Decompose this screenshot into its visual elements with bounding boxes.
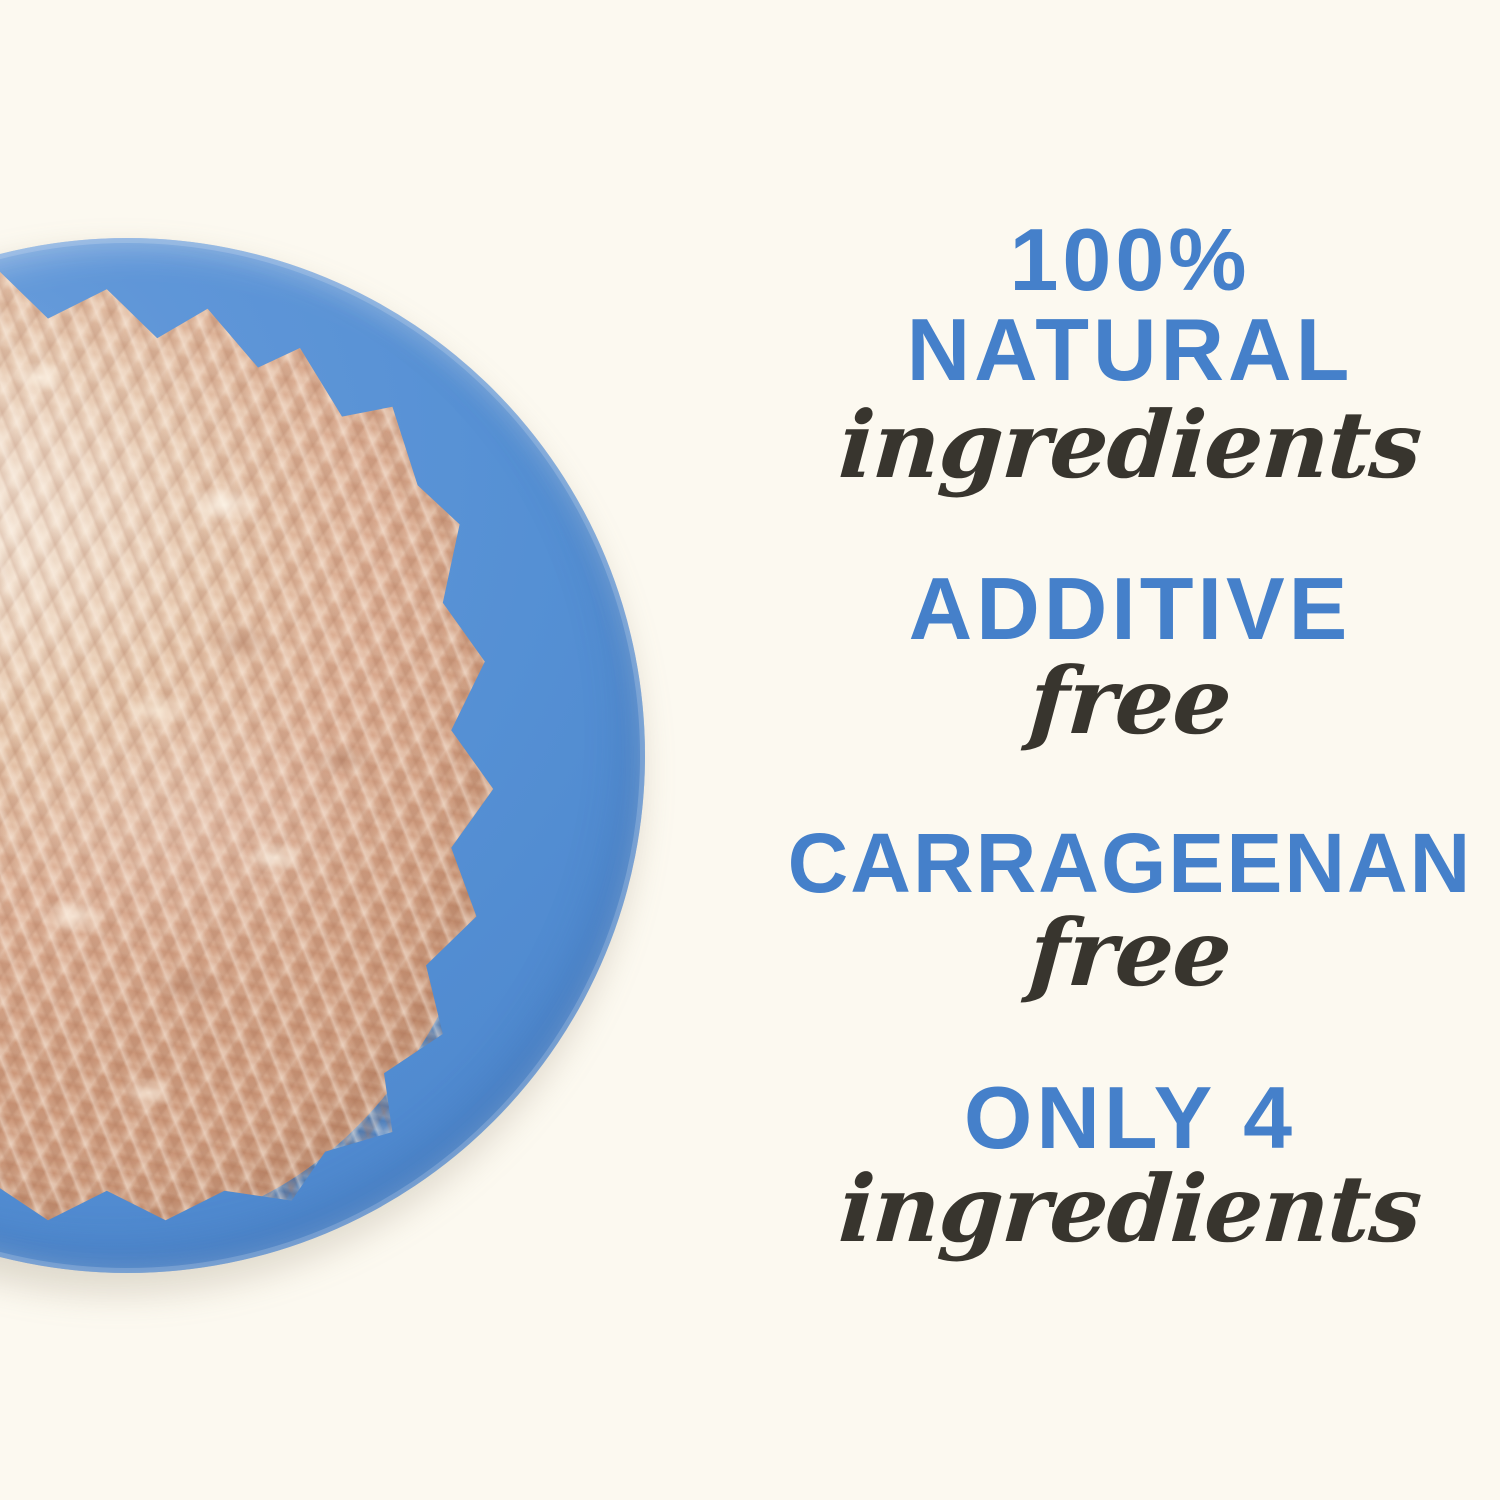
- claim-headline: ONLY 4: [760, 1077, 1500, 1160]
- claim-script: ingredients: [757, 1161, 1500, 1259]
- claim-natural-ingredients: 100%NATURAL ingredients: [760, 215, 1500, 494]
- food-gloss-highlight: [0, 250, 510, 1230]
- product-photo: [0, 0, 760, 1500]
- claim-only-4-ingredients: ONLY 4 ingredients: [760, 1077, 1500, 1259]
- claim-script: ingredients: [757, 397, 1500, 495]
- claim-headline-line-1: 100%: [1009, 210, 1250, 309]
- claims-list: 100%NATURAL ingredients ADDITIVE free CA…: [760, 0, 1500, 1500]
- product-claims-panel: 100%NATURAL ingredients ADDITIVE free CA…: [0, 0, 1500, 1500]
- claim-headline: ADDITIVE: [760, 568, 1500, 651]
- claim-script: free: [757, 905, 1500, 1003]
- food-serving: [0, 250, 510, 1230]
- claim-additive-free: ADDITIVE free: [760, 568, 1500, 750]
- claim-headline: 100%NATURAL: [760, 215, 1500, 395]
- food-base-shape: [0, 250, 510, 1230]
- claim-script: free: [757, 653, 1500, 751]
- claim-headline-line-2: NATURAL: [907, 300, 1354, 399]
- claim-carrageenan-free: CARRAGEENAN free: [760, 824, 1500, 1002]
- claim-headline: CARRAGEENAN: [760, 824, 1500, 903]
